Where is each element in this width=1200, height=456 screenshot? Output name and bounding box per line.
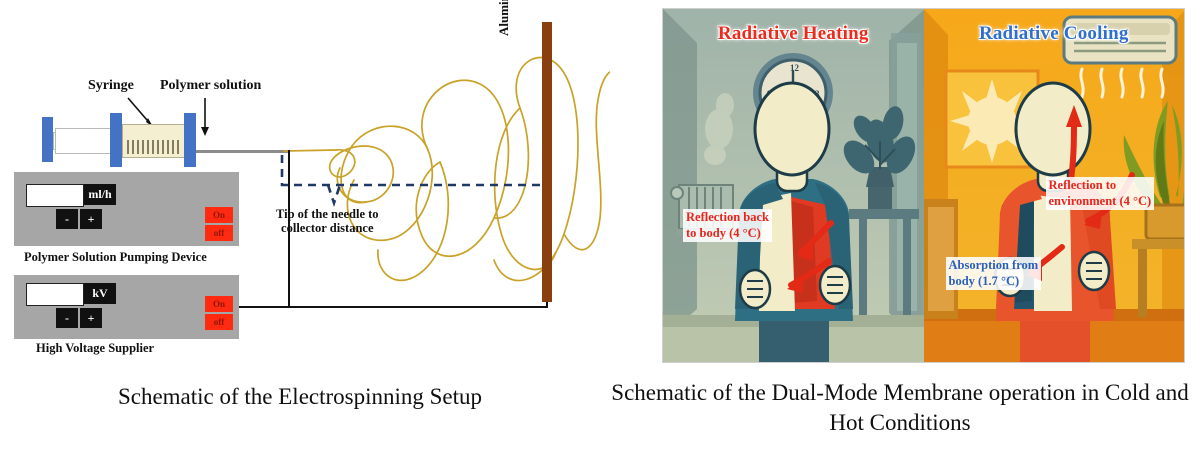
svg-text:12: 12 <box>790 63 800 73</box>
left-caption: Schematic of the Electrospinning Setup <box>0 382 600 412</box>
high-voltage-caption: High Voltage Supplier <box>36 341 154 355</box>
figure-root: ml/h - + On off kV - + On off Syringe Po… <box>0 0 1200 456</box>
dual-mode-membrane-illustration: 123 69 <box>662 8 1185 363</box>
hv-unit-label: kV <box>84 283 116 304</box>
pump-off-button[interactable]: off <box>205 225 233 241</box>
radiative-heating-title: Radiative Heating <box>663 23 924 45</box>
hv-plus-button[interactable]: + <box>80 308 102 328</box>
needle-distance-label: Tip of the needle to collector distance <box>276 207 379 236</box>
hv-on-button[interactable]: On <box>205 296 233 312</box>
hv-minus-button[interactable]: - <box>56 308 78 328</box>
pump-display[interactable] <box>26 184 84 207</box>
wire-collector-drop <box>546 302 548 308</box>
wire-horizontal-ground <box>239 306 548 308</box>
hv-display[interactable] <box>26 283 84 306</box>
right-caption: Schematic of the Dual-Mode Membrane oper… <box>600 378 1200 438</box>
solution-hatching <box>122 140 186 174</box>
pump-on-button[interactable]: On <box>205 207 233 223</box>
callout-reflection-to-environment: Reflection to environment (4 °C) <box>1046 177 1155 210</box>
distance-indicator <box>276 145 606 265</box>
syringe-label: Syringe <box>88 78 134 94</box>
cold-scene-art: 123 69 <box>663 9 924 362</box>
syringe-plunger-head <box>42 117 53 162</box>
syringe-flange-left <box>110 113 122 167</box>
hot-condition-scene: Radiative Cooling Reflection to environm… <box>924 9 1185 362</box>
pump-unit-label: ml/h <box>84 184 116 205</box>
hv-off-button[interactable]: off <box>205 314 233 330</box>
pump-minus-button[interactable]: - <box>56 209 78 229</box>
syringe-barrel-empty <box>55 128 113 154</box>
callout-reflection-back-to-body: Reflection back to body (4 °C) <box>683 209 772 242</box>
electrospinning-schematic: ml/h - + On off kV - + On off Syringe Po… <box>0 0 600 375</box>
pump-plus-button[interactable]: + <box>80 209 102 229</box>
callout-absorption-from-body: Absorption from body (1.7 °C) <box>946 257 1042 290</box>
cold-condition-scene: 123 69 <box>663 9 924 362</box>
collector-label: Aluminium foil as Nanofiber collector <box>497 0 512 36</box>
pumping-device-caption: Polymer Solution Pumping Device <box>24 250 207 264</box>
radiative-cooling-title: Radiative Cooling <box>924 23 1185 45</box>
polymer-solution-label: Polymer solution <box>160 78 261 94</box>
needle-tube <box>196 150 288 153</box>
aluminium-foil-collector <box>542 22 552 302</box>
